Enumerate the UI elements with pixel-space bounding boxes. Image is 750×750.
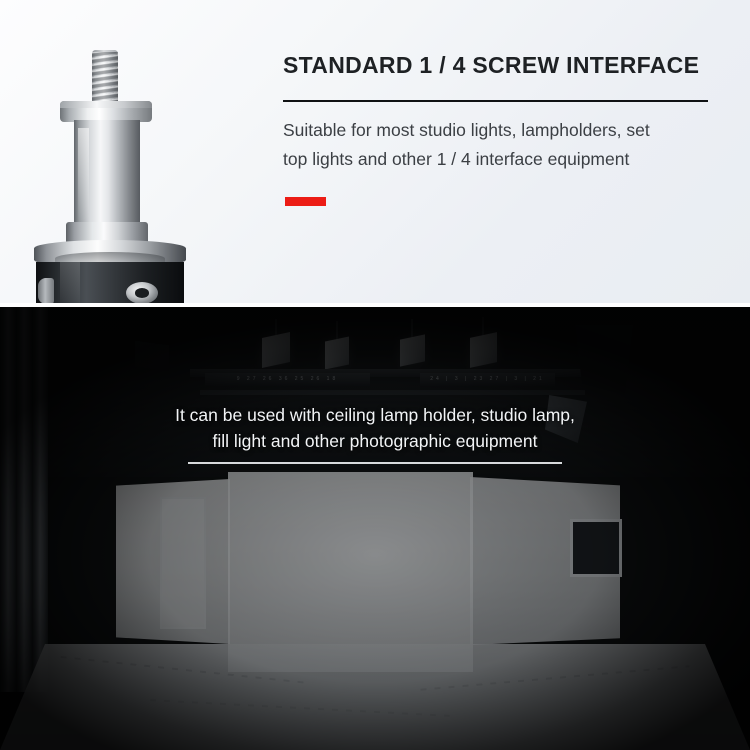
cyclorama-backdrop <box>228 472 473 672</box>
screw-collar-flange <box>60 101 152 122</box>
adapter-side-tab <box>38 278 54 303</box>
bottom-usage-panel: 9 27 26 36 25 26 18 24 | 3 | 23 27 | 3 |… <box>0 307 750 750</box>
feature-description-line-2: top lights and other 1 / 4 interface equ… <box>283 145 715 174</box>
studio-curtain <box>0 307 48 692</box>
ceiling-rail-marking-b: 24 | 3 | 23 27 | 3 | 21 <box>420 373 555 386</box>
feature-description-line-1: Suitable for most studio lights, lamphol… <box>283 116 715 145</box>
product-infographic-page: STANDARD 1 / 4 SCREW INTERFACE Suitable … <box>0 0 750 750</box>
red-accent-bar <box>285 197 326 206</box>
adapter-side-knob-icon <box>126 282 158 303</box>
studio-doorway <box>160 497 206 629</box>
feature-description: Suitable for most studio lights, lamphol… <box>283 116 715 174</box>
ceiling-lamp <box>325 336 349 369</box>
caption-divider <box>188 462 562 464</box>
top-feature-panel: STANDARD 1 / 4 SCREW INTERFACE Suitable … <box>0 0 750 303</box>
screw-thread-icon <box>92 52 118 104</box>
ceiling-flag-panel <box>575 325 633 395</box>
product-photo-screw-adapter <box>0 0 250 303</box>
usage-caption: It can be used with ceiling lamp holder,… <box>0 402 750 454</box>
ceiling-lamp <box>470 332 497 368</box>
studio-floor <box>0 644 750 750</box>
top-text-block: STANDARD 1 / 4 SCREW INTERFACE Suitable … <box>283 0 713 303</box>
page-title: STANDARD 1 / 4 SCREW INTERFACE <box>283 52 713 79</box>
ceiling-truss-secondary <box>200 390 585 395</box>
screw-barrel <box>74 120 140 230</box>
ceiling-equipment-box <box>135 341 169 372</box>
ceiling-rail-marking-a: 9 27 26 36 25 26 18 <box>205 373 370 386</box>
usage-caption-line-2: fill light and other photographic equipm… <box>0 428 750 454</box>
title-divider <box>283 100 708 102</box>
studio-window <box>570 519 622 577</box>
ceiling-lamp <box>262 332 290 368</box>
usage-caption-line-1: It can be used with ceiling lamp holder,… <box>0 402 750 428</box>
adapter-black-body <box>36 262 184 303</box>
ceiling-lamp <box>400 334 425 366</box>
